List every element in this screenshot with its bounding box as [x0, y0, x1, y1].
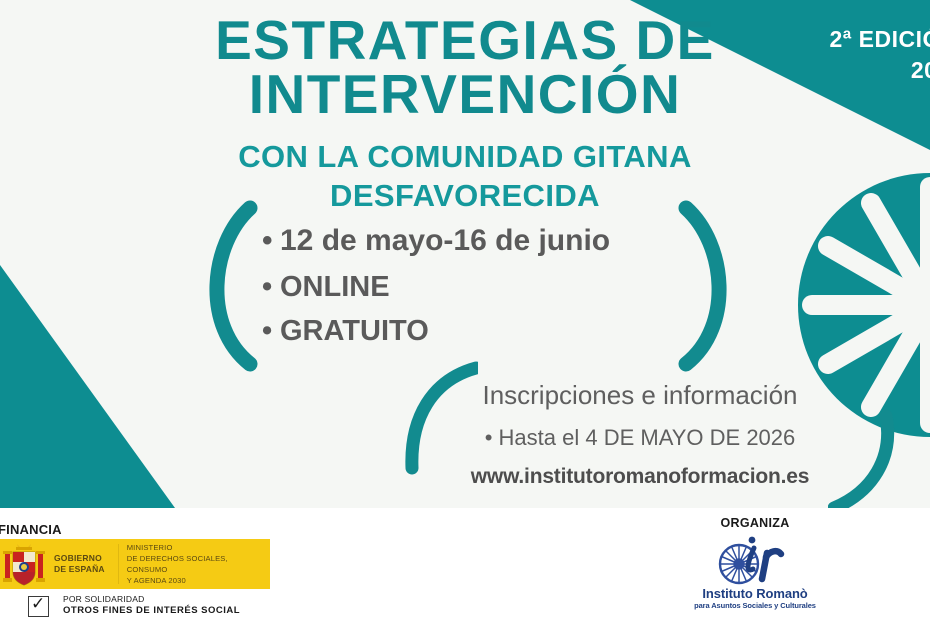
- spain-coat-of-arms-icon: [0, 540, 50, 588]
- list-item-label: ONLINE: [280, 271, 390, 303]
- left-bracket-arc: [192, 196, 264, 376]
- organiza-block: ORGANIZA: [690, 516, 820, 610]
- check-mark-icon: ✓: [31, 594, 45, 613]
- ministry-name: MINISTERIO DE DERECHOS SOCIALES, CONSUMO…: [127, 542, 270, 586]
- gov-line-2: DE ESPAÑA: [54, 564, 116, 575]
- registration-info: Inscripciones e información • Hasta el 4…: [440, 380, 840, 489]
- registration-url[interactable]: www.institutoromanoformacion.es: [440, 465, 840, 489]
- info-right-arc: [828, 408, 908, 518]
- poster-subtitle: CON LA COMUNIDAD GITANA DESFAVORECIDA: [0, 138, 930, 216]
- footer-bar: FINANCIA: [0, 508, 930, 620]
- poster-title: ESTRATEGIAS DE INTERVENCIÓN: [0, 14, 930, 122]
- list-item-label: GRATUITO: [280, 315, 429, 347]
- bullet-dot-icon: •: [262, 265, 280, 310]
- government-logo-banner: GOBIERNO DE ESPAÑA MINISTERIO DE DERECHO…: [0, 539, 270, 589]
- list-item-label: 12 de mayo-16 de junio: [280, 224, 610, 257]
- ir-monogram-icon: [707, 531, 803, 587]
- registration-deadline: • Hasta el 4 DE MAYO DE 2026: [440, 425, 840, 451]
- solidarity-line-2: OTROS FINES DE INTERÉS SOCIAL: [63, 605, 240, 618]
- list-item: •12 de mayo-16 de junio: [262, 218, 692, 265]
- list-item: •ONLINE: [262, 265, 692, 310]
- checkbox-icon: ✓: [28, 596, 49, 617]
- ministry-line-3: Y AGENDA 2030: [127, 575, 270, 586]
- government-name: GOBIERNO DE ESPAÑA: [50, 553, 116, 576]
- institute-subtitle: para Asuntos Sociales y Culturales: [690, 601, 820, 610]
- title-line-1: ESTRATEGIAS DE: [0, 14, 930, 68]
- institute-name: Instituto Romanò: [690, 586, 820, 601]
- registration-heading: Inscripciones e información: [440, 380, 840, 411]
- subtitle-line-1: CON LA COMUNIDAD GITANA: [0, 138, 930, 177]
- ministry-line-2: DE DERECHOS SOCIALES, CONSUMO: [127, 553, 270, 575]
- subtitle-line-2: DESFAVORECIDA: [0, 177, 930, 216]
- title-line-2: INTERVENCIÓN: [0, 68, 930, 122]
- poster-canvas: 2ª EDICIÓN 2026: [0, 0, 930, 620]
- left-triangle-shape: [0, 265, 175, 508]
- ministry-line-1: MINISTERIO: [127, 542, 270, 553]
- solidarity-text: POR SOLIDARIDAD OTROS FINES DE INTERÉS S…: [49, 594, 240, 618]
- course-details-list: •12 de mayo-16 de junio •ONLINE •GRATUIT…: [262, 218, 692, 354]
- solidarity-line-1: POR SOLIDARIDAD: [63, 594, 240, 605]
- bullet-dot-icon: •: [262, 218, 280, 265]
- financia-label: FINANCIA: [0, 522, 62, 537]
- banner-divider: [118, 544, 119, 584]
- list-item: •GRATUITO: [262, 309, 692, 354]
- solidarity-mark: ✓ POR SOLIDARIDAD OTROS FINES DE INTERÉS…: [28, 594, 240, 618]
- gov-line-1: GOBIERNO: [54, 553, 116, 564]
- organiza-label: ORGANIZA: [690, 516, 820, 530]
- bullet-dot-icon: •: [262, 309, 280, 354]
